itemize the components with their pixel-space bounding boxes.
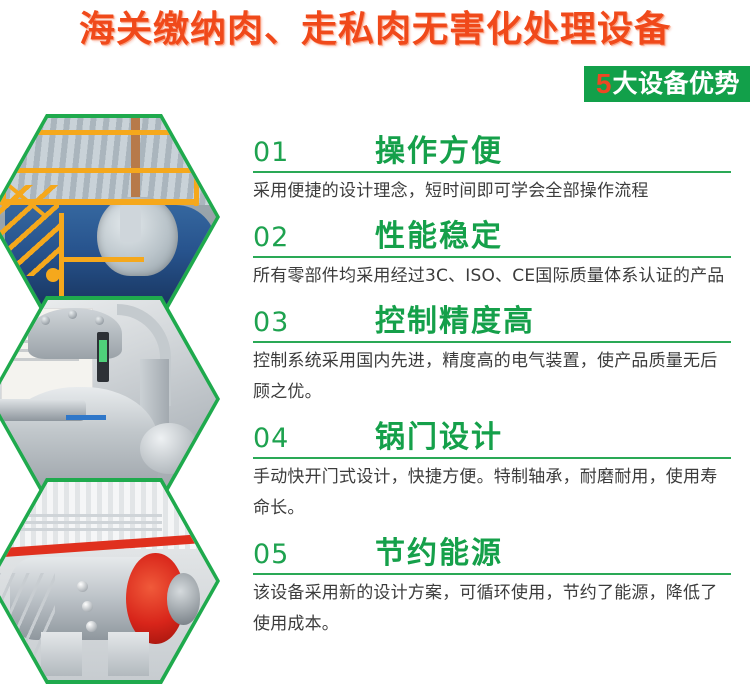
- advantage-divider: [253, 457, 731, 459]
- advantage-title: 控制精度高: [375, 306, 535, 338]
- advantage-title: 操作方便: [375, 136, 503, 168]
- advantage-number: 02: [253, 223, 375, 253]
- advantage-divider: [253, 171, 731, 173]
- product-photo-column: [0, 110, 232, 680]
- advantage-title: 锅门设计: [375, 422, 503, 454]
- advantage-divider: [253, 573, 731, 575]
- advantage-description: 该设备采用新的设计方案，可循环使用，节约了能源，降低了使用成本。: [253, 578, 727, 640]
- advantage-title: 节约能源: [375, 538, 503, 570]
- advantage-number: 04: [253, 424, 375, 454]
- advantage-item-2: 02 性能稳定 所有零部件均采用经过3C、ISO、CE国际质量体系认证的产品: [253, 209, 731, 292]
- advantage-number: 05: [253, 540, 375, 570]
- product-photo-1: [0, 114, 220, 320]
- promo-page: 海关缴纳肉、走私肉无害化处理设备 5 大设备优势: [0, 0, 750, 685]
- badge-number: 5: [596, 70, 612, 98]
- product-photo-3: [0, 478, 220, 684]
- advantage-description: 手动快开门式设计，快捷方便。特制轴承，耐磨耐用，使用寿命长。: [253, 462, 727, 524]
- advantage-item-3: 03 控制精度高 控制系统采用国内先进，精度高的电气装置，使产品质量无后顾之优。: [253, 294, 731, 408]
- advantage-description: 采用便捷的设计理念，短时间即可学会全部操作流程: [253, 176, 727, 207]
- advantage-divider: [253, 256, 731, 258]
- advantage-number: 01: [253, 138, 375, 168]
- advantage-item-1: 01 操作方便 采用便捷的设计理念，短时间即可学会全部操作流程: [253, 124, 731, 207]
- advantage-description: 所有零部件均采用经过3C、ISO、CE国际质量体系认证的产品: [253, 261, 727, 292]
- advantage-divider: [253, 341, 731, 343]
- advantage-number: 03: [253, 308, 375, 338]
- badge-label: 大设备优势: [612, 72, 740, 97]
- product-photo-2: [0, 296, 220, 502]
- advantage-item-4: 04 锅门设计 手动快开门式设计，快捷方便。特制轴承，耐磨耐用，使用寿命长。: [253, 410, 731, 524]
- advantage-item-5: 05 节约能源 该设备采用新的设计方案，可循环使用，节约了能源，降低了使用成本。: [253, 526, 731, 640]
- advantages-list: 01 操作方便 采用便捷的设计理念，短时间即可学会全部操作流程 02 性能稳定 …: [253, 124, 731, 642]
- advantage-description: 控制系统采用国内先进，精度高的电气装置，使产品质量无后顾之优。: [253, 346, 727, 408]
- advantage-title: 性能稳定: [375, 221, 503, 253]
- page-title: 海关缴纳肉、走私肉无害化处理设备: [0, 6, 750, 52]
- advantages-badge: 5 大设备优势: [584, 66, 750, 102]
